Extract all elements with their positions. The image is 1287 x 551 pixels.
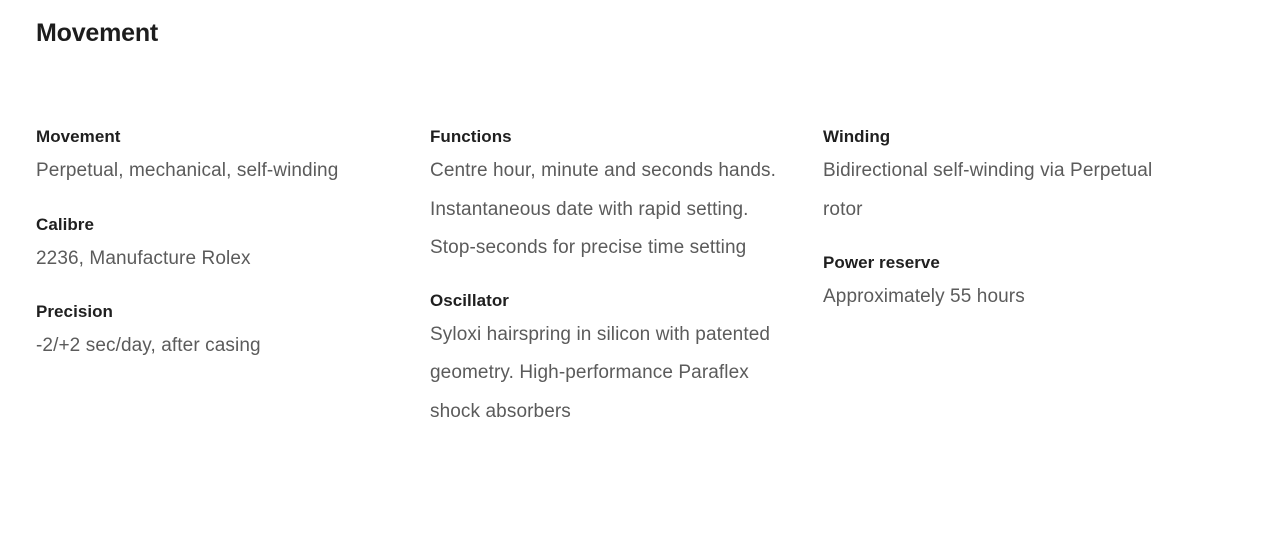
- spec-label-calibre: Calibre: [36, 212, 396, 237]
- spec-value-winding: Bidirectional self-winding via Perpetual…: [823, 152, 1183, 229]
- spec-label-movement: Movement: [36, 124, 396, 149]
- spec-value-movement: Perpetual, mechanical, self-winding: [36, 152, 396, 191]
- spec-value-precision: -2/+2 sec/day, after casing: [36, 327, 396, 366]
- spec-label-power-reserve: Power reserve: [823, 250, 1183, 275]
- spec-label-functions: Functions: [430, 124, 790, 149]
- spec-column-winding: Winding Bidirectional self-winding via P…: [823, 124, 1183, 317]
- spec-group-calibre: Calibre 2236, Manufacture Rolex: [36, 212, 396, 279]
- spec-value-functions: Centre hour, minute and seconds hands. I…: [430, 152, 790, 268]
- spec-group-winding: Winding Bidirectional self-winding via P…: [823, 124, 1183, 229]
- spec-column-movement: Movement Perpetual, mechanical, self-win…: [36, 124, 396, 366]
- spec-value-calibre: 2236, Manufacture Rolex: [36, 240, 396, 279]
- spec-label-precision: Precision: [36, 299, 396, 324]
- specification-columns: Movement Perpetual, mechanical, self-win…: [36, 124, 1251, 431]
- page-title: Movement: [36, 16, 158, 50]
- spec-group-movement: Movement Perpetual, mechanical, self-win…: [36, 124, 396, 191]
- spec-column-functions: Functions Centre hour, minute and second…: [430, 124, 790, 431]
- spec-group-functions: Functions Centre hour, minute and second…: [430, 124, 790, 268]
- spec-group-oscillator: Oscillator Syloxi hairspring in silicon …: [430, 288, 790, 432]
- spec-value-oscillator: Syloxi hairspring in silicon with patent…: [430, 316, 790, 432]
- spec-label-winding: Winding: [823, 124, 1183, 149]
- spec-group-precision: Precision -2/+2 sec/day, after casing: [36, 299, 396, 366]
- spec-value-power-reserve: Approximately 55 hours: [823, 278, 1183, 317]
- spec-group-power-reserve: Power reserve Approximately 55 hours: [823, 250, 1183, 317]
- movement-specifications-page: Movement Movement Perpetual, mechanical,…: [0, 0, 1287, 551]
- spec-label-oscillator: Oscillator: [430, 288, 790, 313]
